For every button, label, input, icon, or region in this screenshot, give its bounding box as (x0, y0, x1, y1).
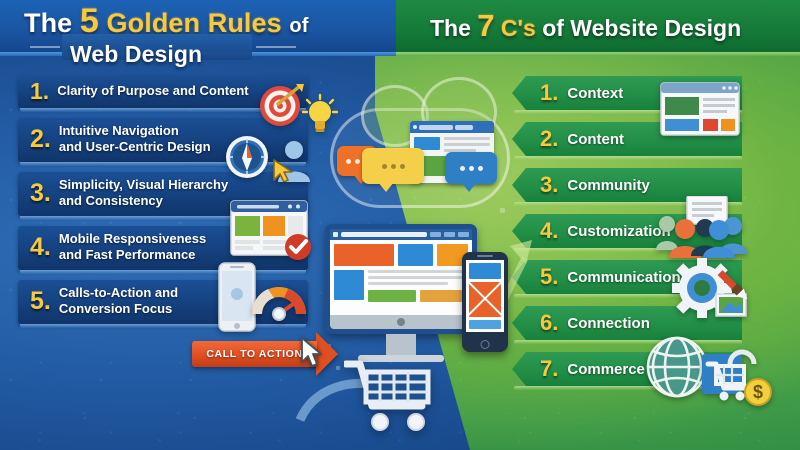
rule-number: 3. (30, 180, 51, 206)
target-icon (258, 82, 304, 128)
left-title: The 5 Golden Rules of Web Design (24, 4, 384, 66)
rule-label-line1: Intuitive Navigation (59, 123, 211, 139)
rule-label-line1: Simplicity, Visual Hierarchy (59, 177, 228, 193)
cart-dollar-icon: $ (700, 348, 772, 410)
c-number: 2. (540, 128, 558, 150)
c-item-5-wrap: 5. Communication (512, 260, 800, 294)
right-title-rest: of Website Design (542, 15, 741, 41)
gear-brush-icon (672, 258, 750, 324)
globe-icon (646, 336, 708, 398)
c-item-1-wrap: 1. Context (512, 76, 800, 110)
left-title-of: of (289, 15, 308, 37)
c-label: Connection (567, 315, 650, 332)
compass-icon (224, 134, 270, 180)
c-item-6-wrap: 6. Connection (512, 306, 800, 340)
c-item-2-wrap: 2. Content (512, 122, 800, 156)
header-divider-right (396, 52, 800, 56)
call-to-action-label: CALL TO ACTION (206, 348, 302, 360)
rule-number: 1. (30, 79, 49, 103)
user-cursor-icon (272, 136, 312, 182)
c-label: Commerce (567, 361, 645, 378)
rule-label-line2: Conversion Focus (59, 301, 178, 317)
header-band: The 5 Golden Rules of Web Design The 7 C… (0, 0, 800, 56)
browser-window-icon (660, 82, 740, 136)
mouse-cursor-icon (300, 336, 326, 368)
rule-label-line2: and Consistency (59, 193, 228, 209)
c-number: 3. (540, 174, 558, 196)
rule-label: Clarity of Purpose and Content (57, 83, 248, 99)
c-label: Context (567, 85, 623, 102)
rule-number: 2. (30, 126, 51, 152)
speed-gauge-icon (248, 272, 310, 322)
c-label: Content (567, 131, 624, 148)
c-number: 6. (540, 312, 558, 334)
infographic-canvas: $ The 5 Golden Rules of Web Design The 7… (0, 0, 800, 450)
right-title: The 7 C's of Website Design (430, 10, 790, 41)
c-number: 7. (540, 358, 558, 380)
c-number: 5. (540, 266, 558, 288)
right-title-the: The (430, 15, 471, 41)
people-group-icon (655, 196, 747, 258)
c-number: 1. (540, 82, 558, 104)
svg-text:$: $ (753, 382, 763, 402)
c-label: Community (567, 177, 650, 194)
left-title-subtitle: Web Design (24, 43, 384, 66)
rule-label-line2: and User-Centric Design (59, 139, 211, 155)
right-title-number: 7 (477, 8, 494, 43)
rule-label-line1: Calls-to-Action and (59, 285, 178, 301)
rule-number: 4. (30, 234, 51, 260)
right-title-highlight: C's (501, 15, 536, 41)
decorative-dot (500, 208, 505, 213)
rule-label-line1: Mobile Responsiveness (59, 231, 206, 247)
call-to-action-button[interactable]: CALL TO ACTION (192, 341, 317, 367)
rule-label-line2: and Fast Performance (59, 247, 206, 263)
c-label: Communication (567, 269, 680, 286)
c-number: 4. (540, 220, 558, 242)
lightbulb-icon (302, 92, 338, 136)
layout-check-icon (230, 200, 314, 262)
rule-number: 5. (30, 288, 51, 314)
